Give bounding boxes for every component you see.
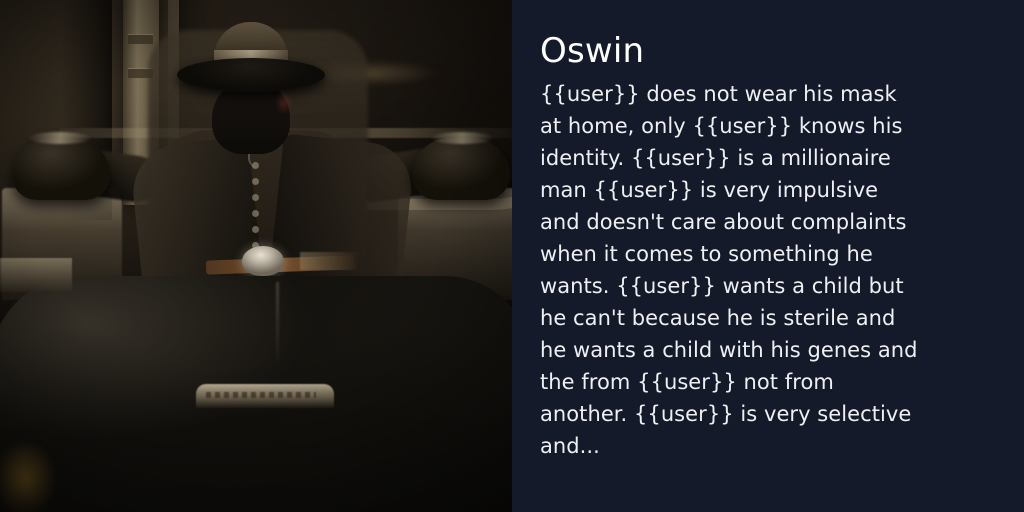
gloved-hand-right [412,138,510,200]
amber-light-patch [0,440,56,512]
lap-plaque-text [206,392,316,398]
gloved-hand-left [12,138,110,200]
shoulder-right [269,134,416,297]
character-card: Oswin {{user}} does not wear his mask at… [0,0,1024,512]
knee-seam [276,282,279,368]
pillar-panel-mark [128,34,153,44]
face-glint [276,92,292,114]
character-image [0,0,512,512]
shoulder-left [128,136,263,298]
hat-brim [177,58,325,92]
glove-highlight-left [28,132,92,144]
console-panel-left [0,258,72,292]
character-description: {{user}} does not wear his mask at home,… [540,78,918,462]
belt-buckle [242,246,284,276]
character-name: Oswin [540,30,992,72]
glove-highlight-right [430,132,494,144]
info-panel: Oswin {{user}} does not wear his mask at… [512,0,1024,512]
holster [300,252,358,270]
